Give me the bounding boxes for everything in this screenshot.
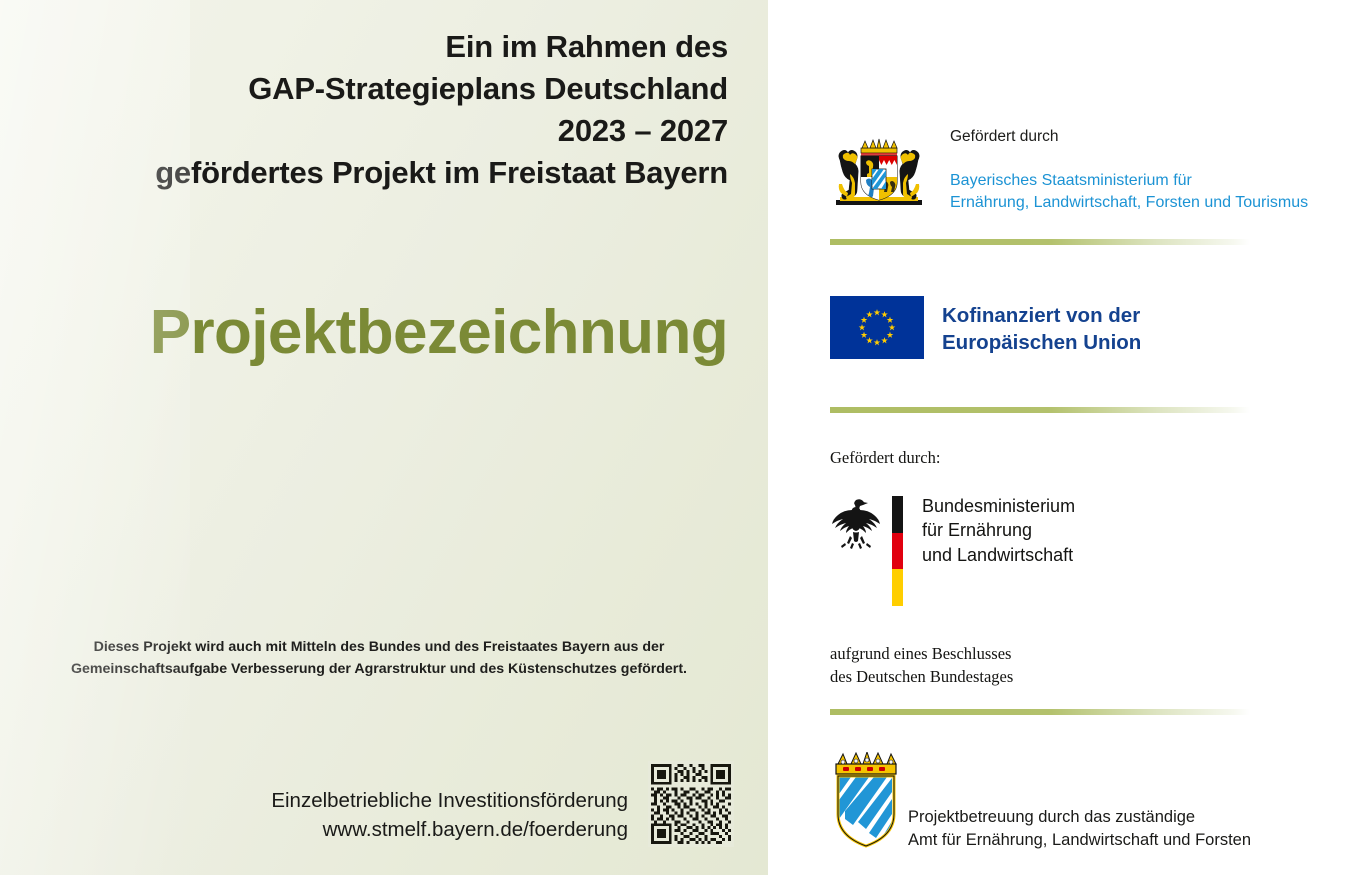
left-footer: Einzelbetriebliche Investitionsförderung… (0, 786, 768, 866)
decision-line-2: des Deutschen Bundestages (830, 665, 1013, 688)
bavarian-shield-icon (830, 752, 902, 857)
bavarian-ministry-name: Bayerisches Staatsministerium für Ernähr… (950, 170, 1308, 215)
headline-line-1: Ein im Rahmen des (28, 26, 728, 68)
bmel-name: Bundesministerium für Ernährung und Land… (922, 494, 1075, 567)
funding-note-line-2: Gemeinschaftsaufgabe Verbesserung der Ag… (26, 658, 732, 680)
programme-label: Einzelbetriebliche Investitionsförderung (180, 786, 628, 815)
qr-code-icon[interactable] (648, 760, 734, 848)
programme-and-url: Einzelbetriebliche Investitionsförderung… (180, 786, 628, 844)
eu-line-1: Kofinanziert von der (942, 302, 1141, 329)
funding-note: Dieses Projekt wird auch mit Mitteln des… (26, 636, 732, 680)
bmel-name-line-1: Bundesministerium (922, 494, 1075, 518)
left-panel: Ein im Rahmen des GAP-Strategieplans Deu… (0, 0, 768, 875)
headline-line-4: gefördertes Projekt im Freistaat Bayern (28, 152, 728, 194)
eu-line-2: Europäischen Union (942, 329, 1141, 356)
bavarian-state-coat-of-arms-icon (830, 136, 928, 208)
ministry-line-2: Ernährung, Landwirtschaft, Forsten und T… (950, 192, 1308, 215)
aelf-line-2: Amt für Ernährung, Landwirtschaft und Fo… (908, 829, 1251, 852)
eu-flag-icon (830, 296, 924, 359)
project-sign-board: Ein im Rahmen des GAP-Strategieplans Deu… (0, 0, 1352, 875)
bmel-name-line-2: für Ernährung (922, 518, 1075, 542)
eu-cofunding-text: Kofinanziert von der Europäischen Union (942, 302, 1141, 356)
headline-block: Ein im Rahmen des GAP-Strategieplans Deu… (28, 26, 728, 195)
right-panel: Gefördert durch Bayerisches Staatsminist… (768, 0, 1352, 875)
bundestag-decision-note: aufgrund eines Beschlusses des Deutschen… (830, 642, 1013, 688)
decision-line-1: aufgrund eines Beschlusses (830, 642, 1013, 665)
german-flag-bar-icon (892, 496, 903, 606)
aelf-line-1: Projektbetreuung durch das zuständige (908, 806, 1251, 829)
bavarian-ministry-text: Gefördert durch Bayerisches Staatsminist… (950, 128, 1308, 215)
funding-note-line-1: Dieses Projekt wird auch mit Mitteln des… (26, 636, 732, 658)
bmel-name-line-3: und Landwirtschaft (922, 543, 1075, 567)
project-title: Projektbezeichnung (28, 300, 728, 365)
divider-3 (830, 709, 1250, 715)
aelf-text: Projektbetreuung durch das zuständige Am… (908, 806, 1251, 853)
headline-line-3: 2023 – 2027 (28, 110, 728, 152)
funded-by-label: Gefördert durch (950, 128, 1308, 147)
funded-by-label-bmel: Gefördert durch: (830, 448, 940, 468)
bmel-block: Gefördert durch: (830, 448, 940, 468)
headline-line-2: GAP-Strategieplans Deutschland (28, 68, 728, 110)
divider-1 (830, 239, 1250, 245)
divider-2 (830, 407, 1250, 413)
bundesadler-icon (830, 496, 882, 554)
website-url[interactable]: www.stmelf.bayern.de/foerderung (180, 815, 628, 844)
ministry-line-1: Bayerisches Staatsministerium für (950, 170, 1308, 193)
bmel-logo: Bundesministerium für Ernährung und Land… (830, 496, 1055, 621)
